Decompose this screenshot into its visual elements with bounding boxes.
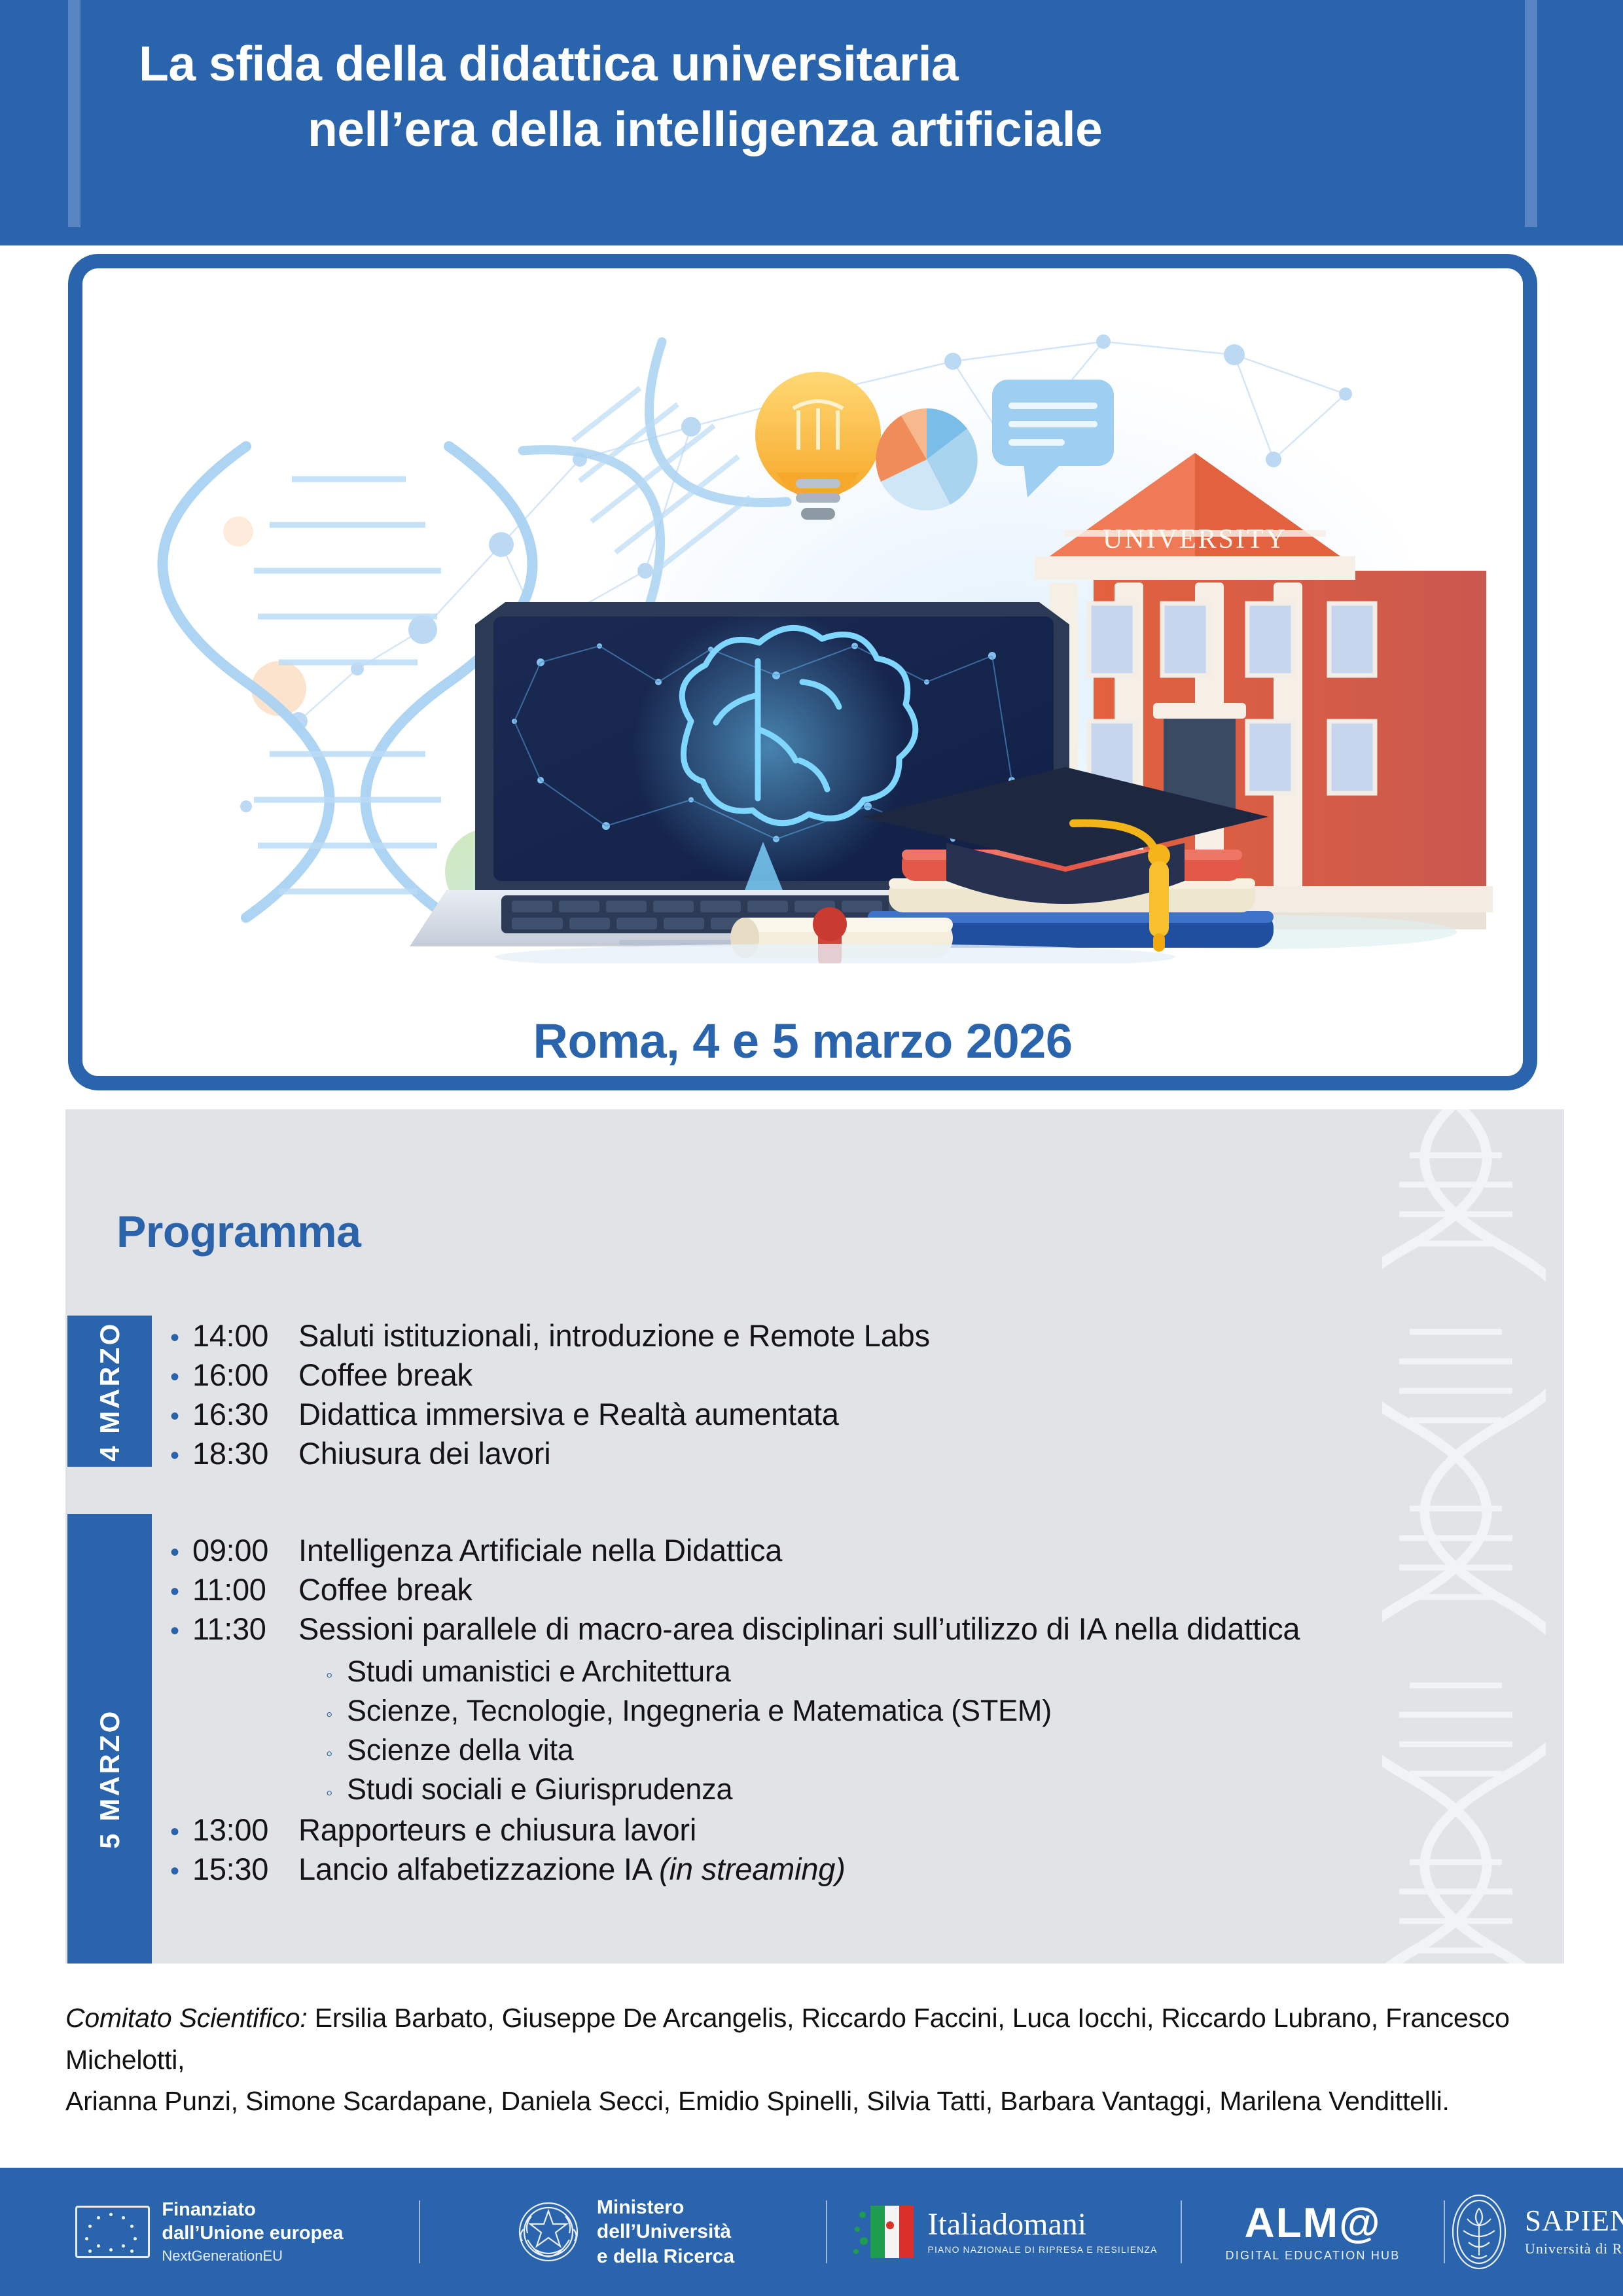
item-description: Sessioni parallele di macro-area discipl…	[298, 1611, 1300, 1647]
hero-illustration: UNIVERSITY	[82, 268, 1523, 963]
page-header: La sfida della didattica universitaria n…	[0, 0, 1623, 245]
programme-row: • 09:00 Intelligenza Artificiale nella D…	[170, 1532, 782, 1568]
programme-subrow: ◦ Studi sociali e Giurisprudenza	[170, 1772, 732, 1806]
svg-text:UNIVERSITY: UNIVERSITY	[1103, 524, 1287, 554]
item-time: 16:30	[192, 1396, 298, 1432]
mur-line-3: e della Ricerca	[597, 2244, 734, 2269]
header-accent-bar-right	[1525, 0, 1537, 227]
item-time: 11:00	[192, 1571, 298, 1607]
logo-eu: Finanziato dall’Unione europea NextGener…	[0, 2168, 419, 2296]
mur-line-2: dell’Università	[597, 2219, 734, 2244]
eu-logo-text: Finanziato dall’Unione europea NextGener…	[162, 2198, 343, 2265]
item-time: 13:00	[192, 1812, 298, 1848]
item-time: 14:00	[192, 1318, 298, 1354]
scientific-committee: Comitato Scientifico: Ersilia Barbato, G…	[65, 1998, 1571, 2123]
item-time: 09:00	[192, 1532, 298, 1568]
logo-italiadomani: Italiadomani PIANO NAZIONALE DI RIPRESA …	[827, 2168, 1181, 2296]
sub-bullet-icon: ◦	[326, 1664, 347, 1687]
day-tab-5-marzo: 5 MARZO	[67, 1514, 152, 1964]
day-tab-label-1: 4 MARZO	[94, 1321, 126, 1462]
italiadomani-line-2: PIANO NAZIONALE DI RIPRESA E RESILIENZA	[928, 2244, 1158, 2255]
sub-bullet-icon: ◦	[326, 1704, 347, 1726]
italia-flag-icon	[851, 2195, 919, 2269]
programme-row: • 16:00 Coffee break	[170, 1357, 473, 1393]
programme-row: • 16:30 Didattica immersiva e Realtà aum…	[170, 1396, 839, 1432]
item-description: Saluti istituzionali, introduzione e Rem…	[298, 1318, 930, 1354]
hero-card: UNIVERSITY	[68, 254, 1537, 1090]
eu-line-2: dall’Unione europea	[162, 2222, 343, 2245]
dna-watermark-icon	[1382, 1109, 1546, 1964]
programme-row: • 11:30 Sessioni parallele di macro-area…	[170, 1611, 1300, 1647]
page-title-line-1: La sfida della didattica universitaria	[118, 31, 1512, 97]
page-footer: Finanziato dall’Unione europea NextGener…	[0, 2168, 1623, 2296]
item-description: Chiusura dei lavori	[298, 1435, 550, 1471]
bullet-icon: •	[170, 1579, 192, 1605]
item-description: Rapporteurs e chiusura lavori	[298, 1812, 696, 1848]
programme-subrow: ◦ Scienze della vita	[170, 1733, 574, 1767]
republic-emblem-icon	[512, 2193, 585, 2271]
programme-row: • 14:00 Saluti istituzionali, introduzio…	[170, 1318, 930, 1354]
sapienza-line-1: SAPIENZA	[1525, 2206, 1623, 2236]
committee-names-line-2: Arianna Punzi, Simone Scardapane, Daniel…	[65, 2086, 1450, 2116]
programme-row: • 13:00 Rapporteurs e chiusura lavori	[170, 1812, 696, 1848]
item-description: Didattica immersiva e Realtà aumentata	[298, 1396, 839, 1432]
item-description: Lancio alfabetizzazione IA (in streaming…	[298, 1851, 846, 1887]
programme-row: • 18:30 Chiusura dei lavori	[170, 1435, 550, 1471]
eu-line-1: Finanziato	[162, 2198, 343, 2221]
bullet-icon: •	[170, 1858, 192, 1884]
subitem-label: Studi umanistici e Architettura	[347, 1655, 731, 1689]
subitem-label: Scienze, Tecnologie, Ingegneria e Matema…	[347, 1694, 1052, 1728]
sapienza-seal-icon	[1445, 2190, 1513, 2274]
subitem-label: Studi sociali e Giurisprudenza	[347, 1772, 732, 1806]
alma-tagline: DIGITAL EDUCATION HUB	[1226, 2249, 1400, 2263]
eu-flag-icon	[75, 2206, 150, 2258]
bullet-icon: •	[170, 1819, 192, 1845]
programme-subrow: ◦ Studi umanistici e Architettura	[170, 1655, 731, 1689]
pie-chart-icon	[876, 408, 977, 511]
programme-panel: Programma 4 MARZO 5 MARZO • 14:00 Saluti…	[65, 1109, 1564, 1964]
sapienza-line-2: Università di Roma	[1525, 2240, 1623, 2257]
eu-line-3: NextGenerationEU	[162, 2248, 343, 2265]
programme-row: • 15:30 Lancio alfabetizzazione IA (in s…	[170, 1851, 846, 1887]
bullet-icon: •	[170, 1443, 192, 1469]
event-date: Roma, 4 e 5 marzo 2026	[82, 1013, 1523, 1069]
footer-logos: Finanziato dall’Unione europea NextGener…	[0, 2168, 1623, 2296]
programme-title: Programma	[116, 1206, 361, 1257]
item-description: Coffee break	[298, 1571, 473, 1607]
sub-bullet-icon: ◦	[326, 1743, 347, 1765]
bullet-icon: •	[170, 1539, 192, 1566]
mur-logo-text: Ministero dell’Università e della Ricerc…	[597, 2195, 734, 2269]
bullet-icon: •	[170, 1403, 192, 1429]
logo-alma: ALM@ DIGITAL EDUCATION HUB	[1182, 2168, 1444, 2296]
bullet-icon: •	[170, 1618, 192, 1644]
logo-mur: Ministero dell’Università e della Ricerc…	[420, 2168, 826, 2296]
item-time: 16:00	[192, 1357, 298, 1393]
item-time: 11:30	[192, 1611, 298, 1647]
alma-wordmark: ALM@	[1244, 2202, 1381, 2244]
mur-line-1: Ministero	[597, 2195, 734, 2219]
hero-card-inner: UNIVERSITY	[82, 268, 1523, 1076]
day-tab-label-2: 5 MARZO	[94, 1709, 126, 1849]
bullet-icon: •	[170, 1364, 192, 1390]
day-tab-4-marzo: 4 MARZO	[67, 1316, 152, 1467]
item-time: 18:30	[192, 1435, 298, 1471]
committee-label: Comitato Scientifico:	[65, 2003, 308, 2033]
italiadomani-logo-text: Italiadomani PIANO NAZIONALE DI RIPRESA …	[928, 2209, 1158, 2255]
italiadomani-line-1: Italiadomani	[928, 2209, 1158, 2240]
programme-subrow: ◦ Scienze, Tecnologie, Ingegneria e Mate…	[170, 1694, 1052, 1728]
logo-sapienza: SAPIENZA Università di Roma	[1445, 2168, 1623, 2296]
sapienza-logo-text: SAPIENZA Università di Roma	[1525, 2206, 1623, 2257]
subitem-label: Scienze della vita	[347, 1733, 574, 1767]
item-time: 15:30	[192, 1851, 298, 1887]
programme-row: • 11:00 Coffee break	[170, 1571, 473, 1607]
page-title: La sfida della didattica universitaria n…	[118, 31, 1512, 162]
item-description: Intelligenza Artificiale nella Didattica	[298, 1532, 782, 1568]
item-description-main: Lancio alfabetizzazione IA	[298, 1852, 659, 1886]
header-accent-bar-left	[68, 0, 80, 227]
item-description: Coffee break	[298, 1357, 473, 1393]
bullet-icon: •	[170, 1325, 192, 1351]
item-description-note: (in streaming)	[659, 1852, 846, 1886]
page-title-line-2: nell’era della intelligenza artificiale	[118, 97, 1512, 162]
sub-bullet-icon: ◦	[326, 1782, 347, 1804]
